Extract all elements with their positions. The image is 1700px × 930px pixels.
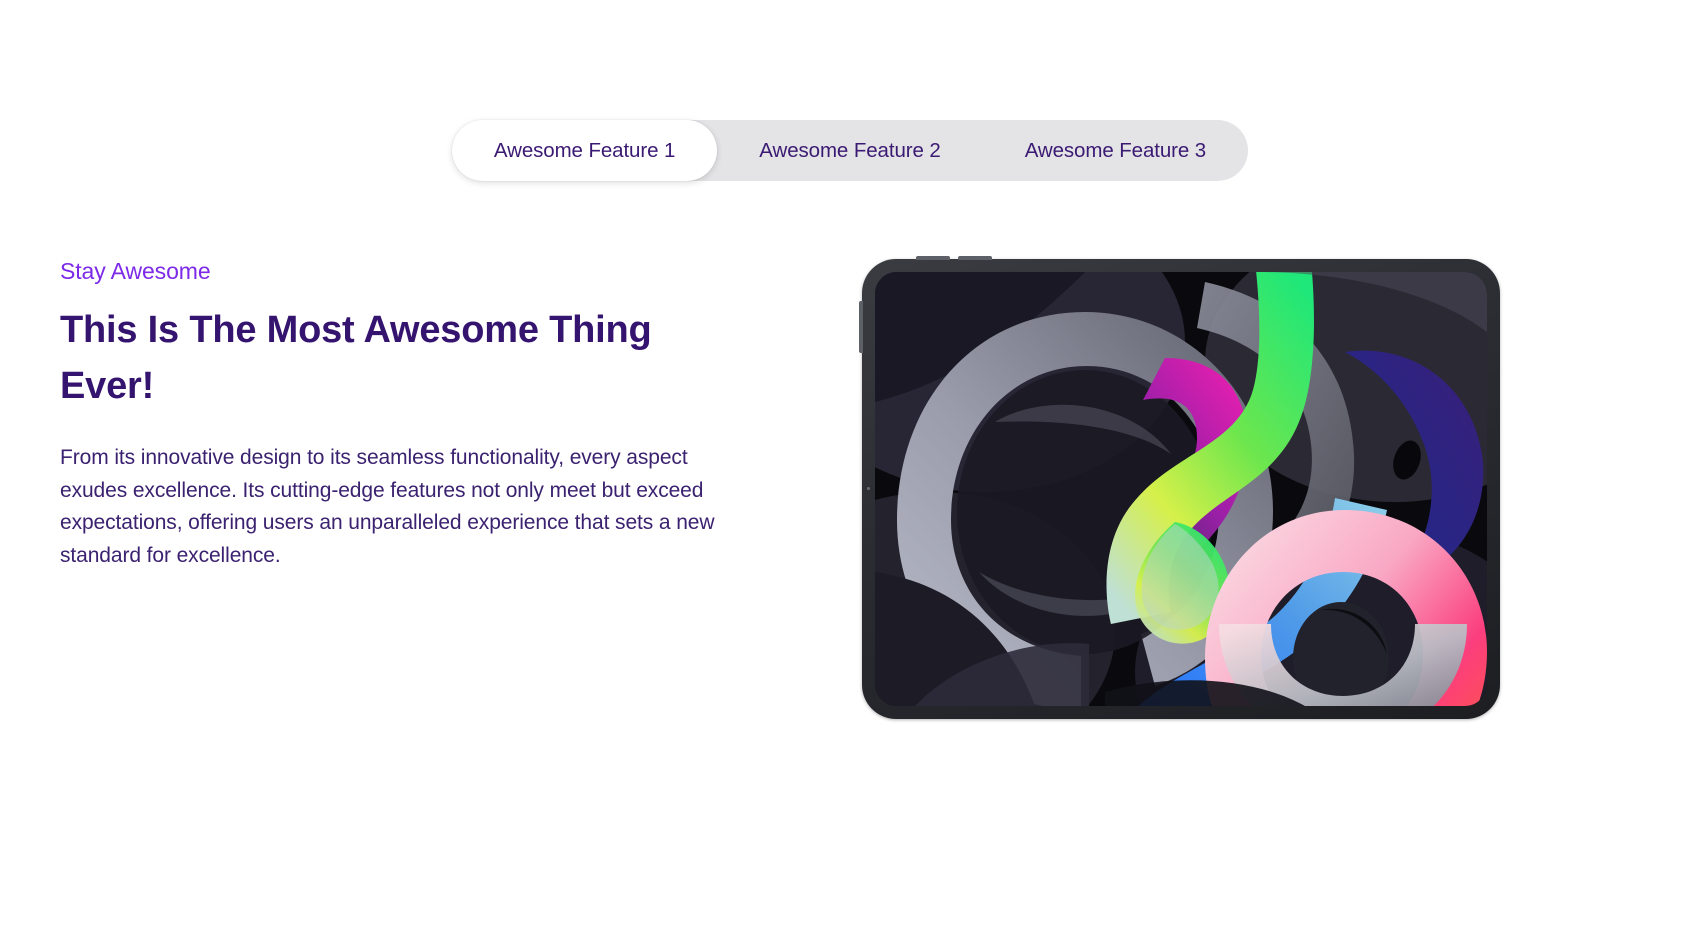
- feature-content: Stay Awesome This Is The Most Awesome Th…: [60, 258, 750, 572]
- page-title: This Is The Most Awesome Thing Ever!: [60, 302, 685, 414]
- tab-awesome-feature-1[interactable]: Awesome Feature 1: [452, 120, 717, 181]
- abstract-ribbon-swirl-wallpaper-icon: [875, 272, 1487, 706]
- volume-up-button[interactable]: [916, 256, 950, 260]
- volume-down-button[interactable]: [958, 256, 992, 260]
- tab-awesome-feature-3[interactable]: Awesome Feature 3: [983, 120, 1248, 181]
- sensor-dot-icon: [867, 487, 870, 490]
- tablet-device-mockup: [862, 259, 1500, 719]
- body-paragraph: From its innovative design to its seamle…: [60, 442, 725, 572]
- power-button[interactable]: [859, 301, 863, 353]
- tab-awesome-feature-2[interactable]: Awesome Feature 2: [717, 120, 982, 181]
- tab-bar: Awesome Feature 1 Awesome Feature 2 Awes…: [0, 120, 1700, 181]
- eyebrow-label: Stay Awesome: [60, 258, 750, 286]
- tab-group: Awesome Feature 1 Awesome Feature 2 Awes…: [452, 120, 1248, 181]
- tablet-screen: [875, 272, 1487, 706]
